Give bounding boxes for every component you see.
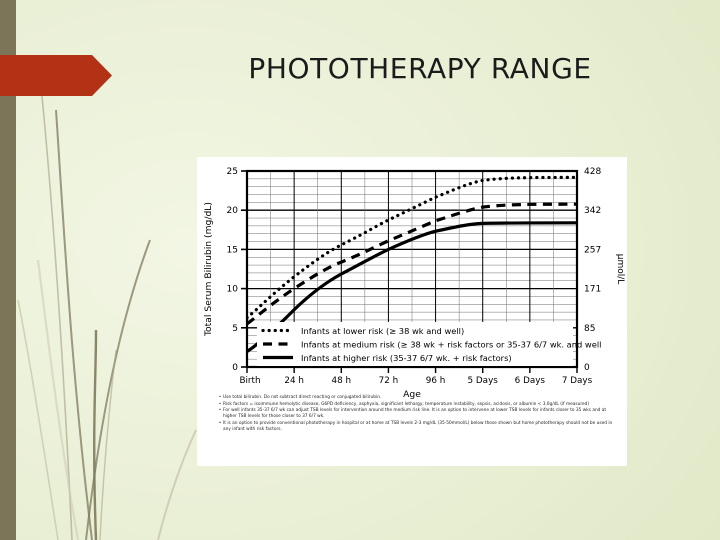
svg-text:48 h: 48 h — [332, 376, 352, 386]
footnote-item: • For well infants 35-37 6/7 wk can adju… — [217, 408, 617, 420]
svg-text:0: 0 — [232, 363, 238, 373]
page-title: PHOTOTHERAPY RANGE — [150, 52, 690, 85]
svg-text:5 Days: 5 Days — [468, 376, 499, 386]
svg-text:96 h: 96 h — [426, 376, 446, 386]
y-axis-title-left: Total Serum Bilirubin (mg/dL) — [203, 202, 214, 337]
svg-text:0: 0 — [584, 363, 590, 373]
svg-text:72 h: 72 h — [379, 376, 399, 386]
legend-label-medium-risk: Infants at medium risk (≥ 38 wk + risk f… — [301, 339, 601, 349]
svg-text:24 h: 24 h — [284, 376, 304, 386]
legend-label-higher-risk: Infants at higher risk (35-37 6/7 wk. + … — [301, 353, 512, 363]
svg-text:171: 171 — [584, 285, 601, 295]
right-arrow-banner — [0, 55, 112, 96]
chart-panel: 0 5 10 15 20 25 Total Serum Bilirubin (m… — [197, 157, 627, 466]
svg-text:428: 428 — [584, 167, 601, 177]
footnote-text: It is an option to provide conventional … — [223, 421, 617, 433]
svg-text:15: 15 — [227, 245, 238, 255]
svg-text:20: 20 — [227, 206, 239, 216]
svg-text:257: 257 — [584, 245, 601, 255]
phototherapy-nomogram-chart: 0 5 10 15 20 25 Total Serum Bilirubin (m… — [197, 157, 627, 466]
footnote-item: • It is an option to provide conventiona… — [217, 421, 617, 433]
footnote-item: • Use total bilirubin. Do not subtract d… — [217, 395, 617, 401]
svg-text:342: 342 — [584, 206, 601, 216]
y-axis-title-right: µmol/L — [615, 254, 625, 285]
svg-text:10: 10 — [227, 285, 239, 295]
svg-text:Birth: Birth — [239, 376, 260, 386]
svg-text:7 Days: 7 Days — [562, 376, 593, 386]
footnote-text: Use total bilirubin. Do not subtract dir… — [223, 395, 617, 401]
chart-legend: Infants at lower risk (≥ 38 wk and well)… — [257, 322, 601, 366]
chart-footnotes: • Use total bilirubin. Do not subtract d… — [217, 395, 617, 434]
legend-label-lower-risk: Infants at lower risk (≥ 38 wk and well) — [301, 326, 464, 336]
svg-text:85: 85 — [584, 324, 595, 334]
footnote-item: • Risk factors = isoimmune hemolytic dis… — [217, 402, 617, 408]
svg-text:25: 25 — [227, 167, 238, 177]
svg-text:5: 5 — [232, 324, 238, 334]
svg-text:6 Days: 6 Days — [515, 376, 546, 386]
slide: PHOTOTHERAPY RANGE — [0, 0, 720, 540]
footnote-text: Risk factors = isoimmune hemolytic disea… — [223, 402, 617, 408]
footnote-text: For well infants 35-37 6/7 wk can adjust… — [223, 408, 617, 420]
